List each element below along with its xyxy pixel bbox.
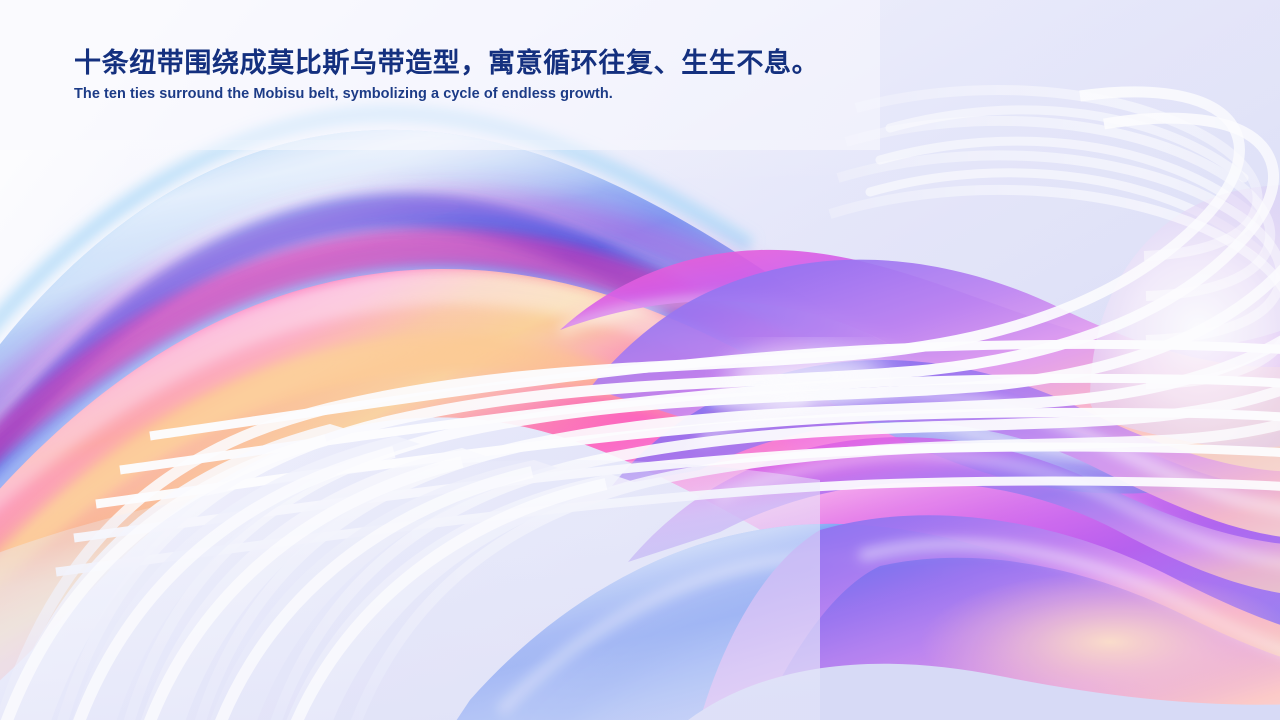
poster-canvas: 十条纽带围绕成莫比斯乌带造型，寓意循环往复、生生不息。 The ten ties…	[0, 0, 1280, 720]
overall-tint	[0, 0, 1280, 720]
mobius-ribbon-artwork	[0, 0, 1280, 720]
